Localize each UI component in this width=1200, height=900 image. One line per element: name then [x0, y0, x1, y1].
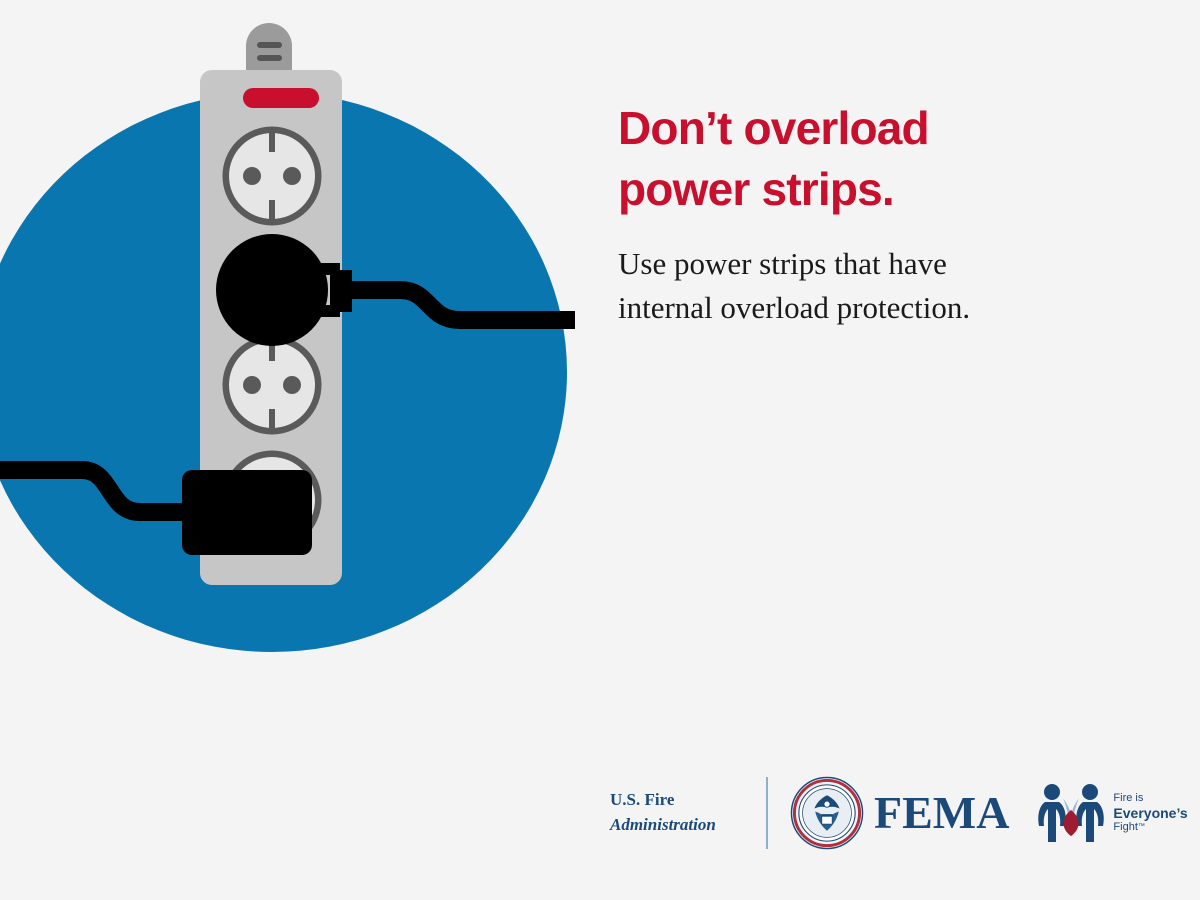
fire-is-everyones-fight-text: Fire is Everyone’s Fight™	[1113, 792, 1187, 834]
poster-canvas: Don’t overload power strips. Use power s…	[0, 0, 1200, 900]
power-indicator-light	[243, 88, 319, 108]
block-adapter-plug	[182, 470, 312, 555]
fief-line-3-text: Fight	[1113, 821, 1137, 833]
headline-line-1: Don’t overload	[618, 98, 1158, 159]
subhead-line-2: internal overload protection.	[618, 286, 1158, 329]
footer-divider	[766, 777, 768, 849]
footer-logo-lockup: U.S. Fire Administration FEMA	[610, 770, 1170, 856]
usfa-line-2: Administration	[610, 813, 752, 838]
socket-empty-upper	[226, 130, 318, 222]
dhs-seal-icon	[790, 776, 864, 850]
page-subtitle: Use power strips that have internal over…	[618, 242, 1158, 329]
fire-is-everyones-fight-lockup: Fire is Everyone’s Fight™	[1035, 780, 1187, 846]
socket-empty-lower	[226, 339, 318, 431]
message-block: Don’t overload power strips. Use power s…	[618, 98, 1158, 329]
fema-wordmark: FEMA	[874, 790, 1009, 836]
usfa-wordmark: U.S. Fire Administration	[610, 788, 752, 837]
subhead-line-1: Use power strips that have	[618, 242, 1158, 285]
strip-cable-cap	[246, 23, 292, 70]
headline-line-2: power strips.	[618, 159, 1158, 220]
fief-trademark: ™	[1138, 823, 1145, 830]
fief-line-2: Everyone’s	[1113, 805, 1187, 821]
fief-line-1: Fire is	[1113, 792, 1187, 805]
fief-line-3: Fight™	[1113, 821, 1187, 834]
page-title: Don’t overload power strips.	[618, 98, 1158, 220]
usfa-line-1: U.S. Fire	[610, 788, 752, 813]
fire-is-everyones-fight-icon	[1035, 780, 1107, 846]
power-strip-illustration	[0, 0, 600, 700]
